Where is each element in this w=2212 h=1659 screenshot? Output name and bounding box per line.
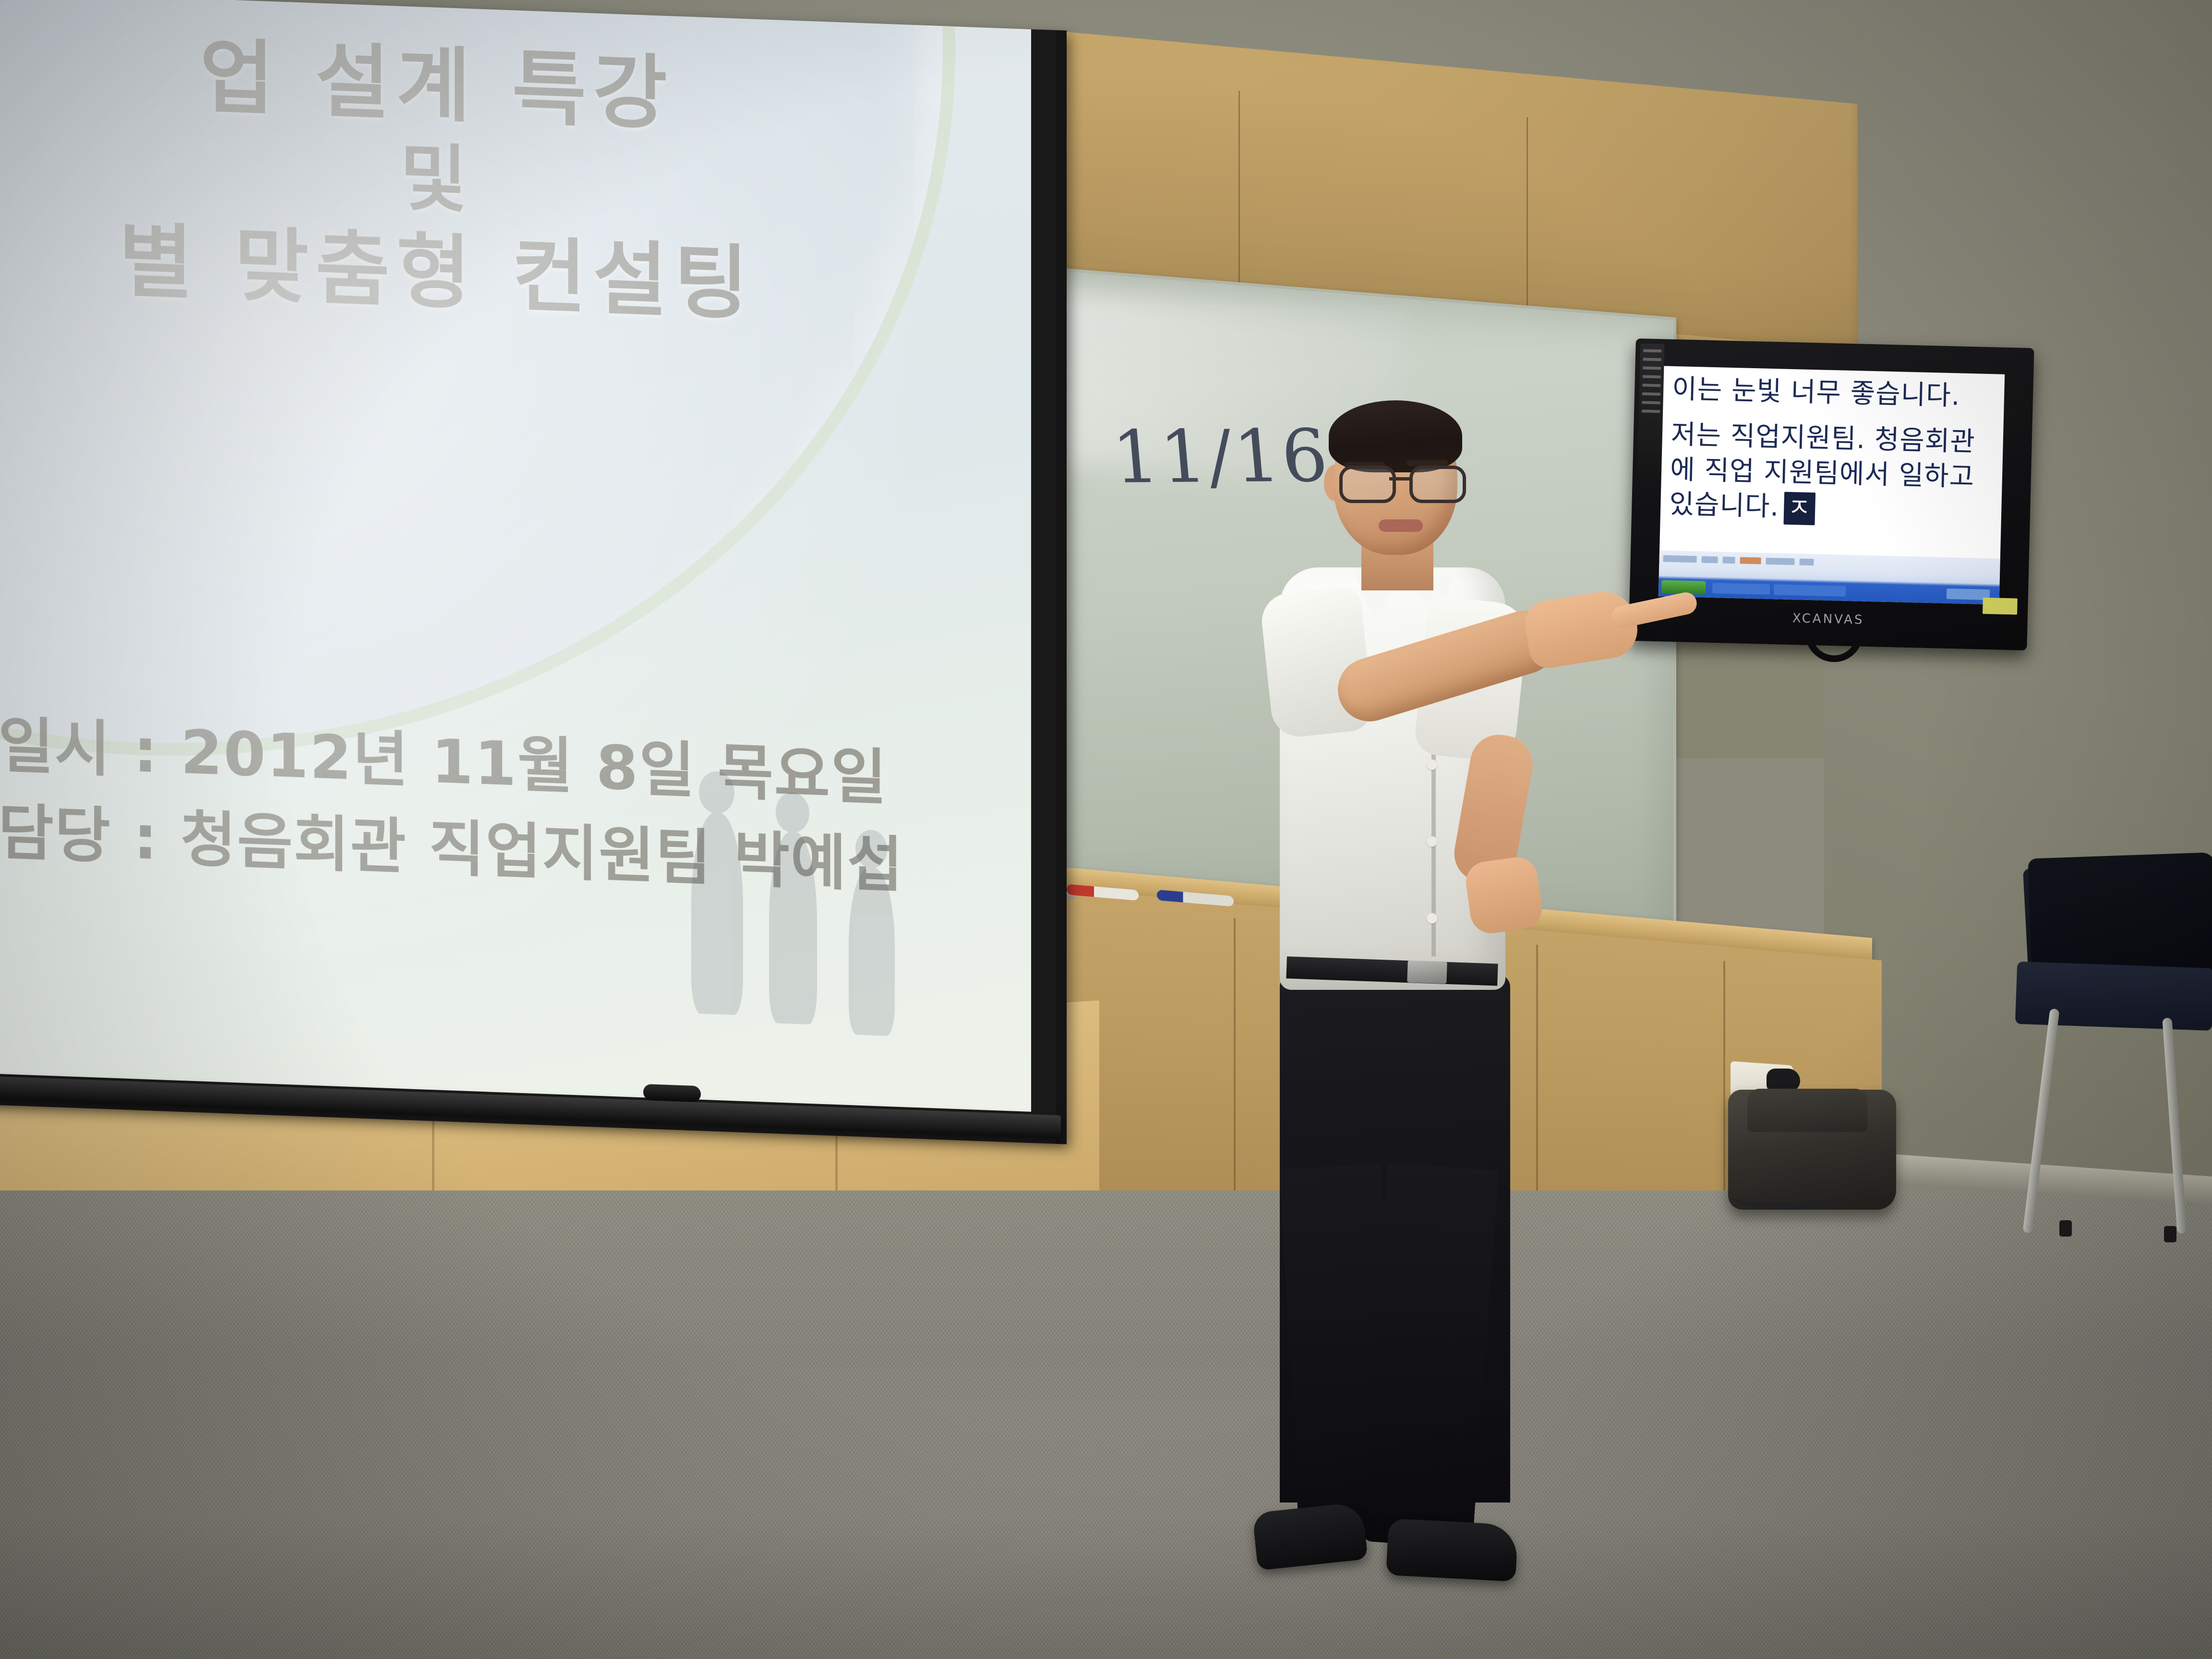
power-plug[interactable]	[1767, 1069, 1800, 1092]
tv-caption-paragraph-2: 저는 직업지원팀. 청음회관에 직업 지원팀에서 일하고 있습니다.ㅈ	[1669, 418, 2000, 530]
glasses-lens-right	[1409, 466, 1466, 503]
slide-title: 업 설계 특강 및 별 맞춤형 컨설팅	[0, 16, 979, 342]
room-photo-scene: 11/16 金 업 설계 특강 및 별	[0, 0, 2212, 1659]
projection-screen-pull-handle[interactable]	[643, 1084, 701, 1102]
chair-seat	[2015, 962, 2212, 1031]
glasses-bridge	[1389, 477, 1409, 481]
tv-caption-text: 이는 눈빛 너무 좋습니다. 저는 직업지원팀. 청음회관에 직업 지원팀에서 …	[1669, 372, 2002, 541]
presenter-glasses	[1339, 466, 1459, 499]
shirt-button	[1427, 759, 1437, 770]
presenter-mouth	[1379, 519, 1423, 532]
projection-screen-surface: 업 설계 특강 및 별 맞춤형 컨설팅 일시 : 2012년 11월 8일 목요…	[0, 0, 1031, 1112]
bag-flap	[1747, 1089, 1867, 1132]
chair-leg-back	[2162, 1018, 2187, 1234]
tv-windows-taskbar	[1659, 550, 2000, 604]
shirt-button	[1427, 913, 1437, 924]
chair-leg-front	[2022, 1009, 2059, 1234]
slide-people-silhouettes	[677, 765, 984, 1112]
shirt-button	[1427, 836, 1437, 847]
tv-text-cursor: ㅈ	[1783, 492, 1815, 525]
bag-strap	[1733, 1186, 1843, 1210]
stacking-chair[interactable]	[2011, 864, 2212, 1296]
tv-yellow-tag	[1983, 598, 2018, 615]
glasses-lens-left	[1339, 466, 1396, 503]
tv-caption-paragraph-1: 이는 눈빛 너무 좋습니다.	[1671, 372, 2002, 415]
presenter	[1195, 398, 1589, 1560]
presenter-shoe-left	[1252, 1502, 1368, 1570]
tv-toolbar-row	[1663, 553, 1814, 567]
tv-caption-paragraph-2-text: 저는 직업지원팀. 청음회관에 직업 지원팀에서 일하고 있습니다.	[1669, 419, 1976, 523]
presenter-shoe-right	[1386, 1518, 1518, 1582]
carpet-floor	[0, 1190, 2212, 1659]
tv-label-sticker	[1637, 343, 1665, 473]
tv-screen: 이는 눈빛 너무 좋습니다. 저는 직업지원팀. 청음회관에 직업 지원팀에서 …	[1659, 366, 2005, 604]
belt-buckle	[1407, 961, 1447, 984]
projection-screen: 업 설계 특강 및 별 맞춤형 컨설팅 일시 : 2012년 11월 8일 목요…	[0, 0, 1067, 1144]
presenter-hand-right	[1463, 854, 1544, 936]
chair-foot	[2059, 1220, 2072, 1237]
chair-foot	[2164, 1226, 2176, 1242]
